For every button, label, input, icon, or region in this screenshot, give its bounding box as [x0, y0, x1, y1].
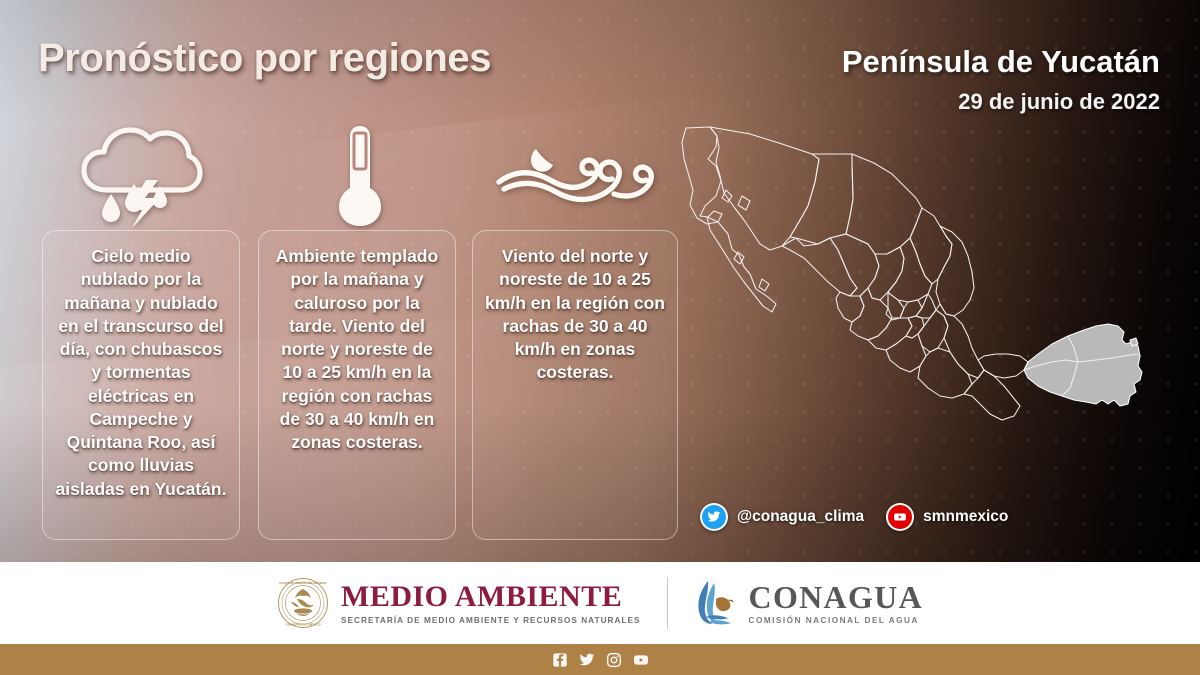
forecast-card-text: Viento del norte y noreste de 10 a 25 km…: [485, 246, 665, 382]
conagua-title: CONAGUA: [749, 579, 923, 615]
twitter-icon: [700, 503, 728, 531]
medio-ambiente-logo: ESTADOS UNIDOS MEXICANOS GOBIERNO DE MÉX…: [277, 577, 641, 629]
facebook-icon[interactable]: [552, 652, 568, 668]
medio-ambiente-title: MEDIO AMBIENTE: [341, 580, 622, 613]
forecast-card-text: Ambiente templado por la mañana y caluro…: [276, 246, 438, 452]
youtube-icon: [886, 503, 914, 531]
twitter-icon[interactable]: [579, 652, 595, 668]
medio-ambiente-text: MEDIO AMBIENTE SECRETARÍA DE MEDIO AMBIE…: [341, 581, 641, 625]
mexican-national-seal-icon: ESTADOS UNIDOS MEXICANOS GOBIERNO DE MÉX…: [277, 577, 329, 629]
forecast-card-text: Cielo medio nublado por la mañana y nubl…: [56, 246, 227, 499]
wind-icon: [496, 132, 662, 210]
twitter-handle-label: @conagua_clima: [737, 508, 864, 526]
region-title: Península de Yucatán: [842, 44, 1160, 80]
page-title: Pronóstico por regiones: [38, 36, 491, 81]
rain-thunderstorm-icon: [76, 118, 204, 228]
footer-social-bar: [0, 644, 1200, 675]
mexico-map-svg: [672, 104, 1200, 504]
conagua-text: CONAGUA COMISIÓN NACIONAL DEL AGUA: [749, 581, 923, 626]
map-states-outline: [682, 127, 1142, 420]
thermometer-icon: [330, 122, 390, 226]
svg-text:ESTADOS UNIDOS MEXICANOS: ESTADOS UNIDOS MEXICANOS: [279, 581, 326, 585]
infographic-canvas: Pronóstico por regiones Península de Yuc…: [0, 0, 1200, 675]
twitter-handle[interactable]: @conagua_clima: [700, 503, 864, 531]
medio-ambiente-subtitle: SECRETARÍA DE MEDIO AMBIENTE Y RECURSOS …: [341, 616, 641, 625]
conagua-eagle-water-icon: [694, 577, 738, 629]
svg-text:GOBIERNO DE MÉXICO: GOBIERNO DE MÉXICO: [285, 622, 321, 627]
mexico-map: [672, 104, 1200, 504]
footer-divider: [667, 577, 668, 629]
forecast-card-wind: Viento del norte y noreste de 10 a 25 km…: [472, 230, 678, 540]
forecast-card-sky: Cielo medio nublado por la mañana y nubl…: [42, 230, 240, 540]
youtube-handle-label: smnmexico: [923, 508, 1008, 526]
footer-logos-bar: ESTADOS UNIDOS MEXICANOS GOBIERNO DE MÉX…: [0, 562, 1200, 644]
youtube-icon[interactable]: [633, 652, 649, 668]
social-handles: @conagua_clima smnmexico: [700, 503, 1008, 531]
conagua-subtitle: COMISIÓN NACIONAL DEL AGUA: [749, 616, 923, 625]
instagram-icon[interactable]: [606, 652, 622, 668]
conagua-logo: CONAGUA COMISIÓN NACIONAL DEL AGUA: [694, 577, 923, 629]
youtube-handle[interactable]: smnmexico: [886, 503, 1008, 531]
forecast-card-temperature: Ambiente templado por la mañana y caluro…: [258, 230, 456, 540]
